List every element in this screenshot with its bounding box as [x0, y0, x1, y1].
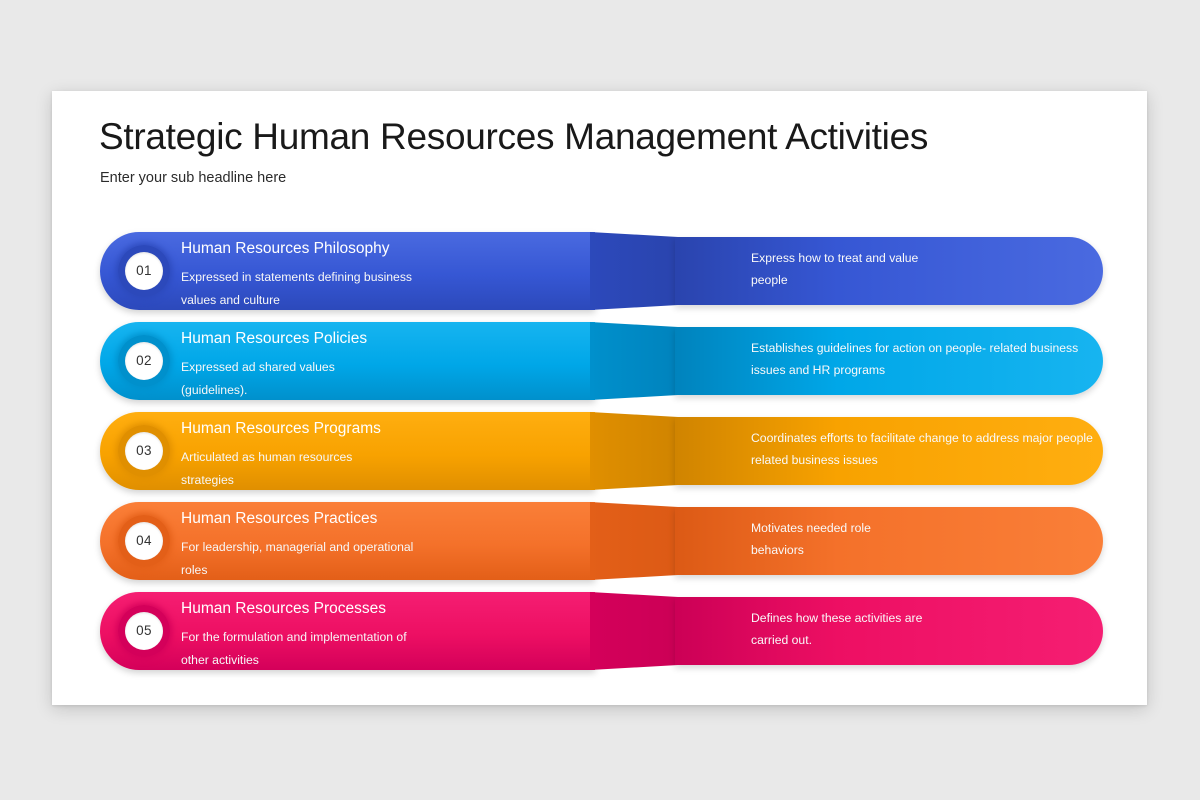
infographic-row[interactable]: 02Human Resources PoliciesExpressed ad s… — [100, 322, 1103, 400]
ribbon-fold — [590, 232, 678, 310]
badge-inner-disc: 04 — [125, 522, 163, 560]
row-description-line: strategies — [181, 469, 581, 492]
row-right-text: Coordinates efforts to facilitate change… — [751, 428, 1131, 472]
row-outcome-line: Establishes guidelines for action on peo… — [751, 338, 1131, 360]
infographic-row[interactable]: 05Human Resources ProcessesFor the formu… — [100, 592, 1103, 670]
row-description: Expressed in statements defining busines… — [181, 266, 581, 311]
row-description-line: Articulated as human resources — [181, 446, 581, 469]
row-outcome: Establishes guidelines for action on peo… — [751, 338, 1131, 382]
row-title: Human Resources Programs — [181, 420, 581, 437]
infographic-rows: 01Human Resources PhilosophyExpressed in… — [52, 91, 1147, 705]
badge-inner-disc: 01 — [125, 252, 163, 290]
row-left-text: Human Resources PoliciesExpressed ad sha… — [181, 330, 581, 401]
row-left-text: Human Resources PhilosophyExpressed in s… — [181, 240, 581, 311]
step-number-badge: 05 — [118, 605, 170, 657]
ribbon-fold — [590, 322, 678, 400]
row-outcome-line: people — [751, 270, 1131, 292]
row-right-text: Defines how these activities arecarried … — [751, 608, 1131, 652]
step-number-badge: 02 — [118, 335, 170, 387]
row-outcome-line: related business issues — [751, 450, 1131, 472]
slide-card: Strategic Human Resources Management Act… — [52, 91, 1147, 705]
badge-number-label: 02 — [136, 354, 152, 368]
row-outcome: Coordinates efforts to facilitate change… — [751, 428, 1131, 472]
badge-number-label: 01 — [136, 264, 152, 278]
row-description-line: Expressed in statements defining busines… — [181, 266, 581, 289]
badge-number-label: 05 — [136, 624, 152, 638]
row-outcome: Express how to treat and valuepeople — [751, 248, 1131, 292]
badge-inner-disc: 05 — [125, 612, 163, 650]
row-title: Human Resources Practices — [181, 510, 581, 527]
row-title: Human Resources Policies — [181, 330, 581, 347]
row-outcome-line: Express how to treat and value — [751, 248, 1131, 270]
row-outcome: Motivates needed rolebehaviors — [751, 518, 1131, 562]
badge-number-label: 03 — [136, 444, 152, 458]
row-description-line: (guidelines). — [181, 379, 581, 402]
row-title: Human Resources Philosophy — [181, 240, 581, 257]
row-outcome-line: issues and HR programs — [751, 360, 1131, 382]
row-description-line: roles — [181, 559, 581, 582]
badge-inner-disc: 02 — [125, 342, 163, 380]
row-left-text: Human Resources PracticesFor leadership,… — [181, 510, 581, 581]
row-description: For the formulation and implementation o… — [181, 626, 581, 671]
ribbon-fold — [590, 502, 678, 580]
row-outcome-line: carried out. — [751, 630, 1131, 652]
infographic-row[interactable]: 04Human Resources PracticesFor leadershi… — [100, 502, 1103, 580]
row-outcome: Defines how these activities arecarried … — [751, 608, 1131, 652]
ribbon-fold — [590, 592, 678, 670]
ribbon-fold — [590, 412, 678, 490]
row-description-line: other activities — [181, 649, 581, 672]
row-description: For leadership, managerial and operation… — [181, 536, 581, 581]
row-description-line: For leadership, managerial and operation… — [181, 536, 581, 559]
step-number-badge: 04 — [118, 515, 170, 567]
row-outcome-line: Coordinates efforts to facilitate change… — [751, 428, 1131, 450]
step-number-badge: 01 — [118, 245, 170, 297]
row-right-text: Establishes guidelines for action on peo… — [751, 338, 1131, 382]
infographic-row[interactable]: 01Human Resources PhilosophyExpressed in… — [100, 232, 1103, 310]
infographic-row[interactable]: 03Human Resources ProgramsArticulated as… — [100, 412, 1103, 490]
row-title: Human Resources Processes — [181, 600, 581, 617]
row-description-line: For the formulation and implementation o… — [181, 626, 581, 649]
row-left-text: Human Resources ProcessesFor the formula… — [181, 600, 581, 671]
row-outcome-line: behaviors — [751, 540, 1131, 562]
badge-number-label: 04 — [136, 534, 152, 548]
row-description-line: values and culture — [181, 289, 581, 312]
row-left-text: Human Resources ProgramsArticulated as h… — [181, 420, 581, 491]
badge-inner-disc: 03 — [125, 432, 163, 470]
row-right-text: Express how to treat and valuepeople — [751, 248, 1131, 292]
row-right-text: Motivates needed rolebehaviors — [751, 518, 1131, 562]
step-number-badge: 03 — [118, 425, 170, 477]
row-description: Articulated as human resourcesstrategies — [181, 446, 581, 491]
row-outcome-line: Motivates needed role — [751, 518, 1131, 540]
row-description: Expressed ad shared values(guidelines). — [181, 356, 581, 401]
row-description-line: Expressed ad shared values — [181, 356, 581, 379]
row-outcome-line: Defines how these activities are — [751, 608, 1131, 630]
